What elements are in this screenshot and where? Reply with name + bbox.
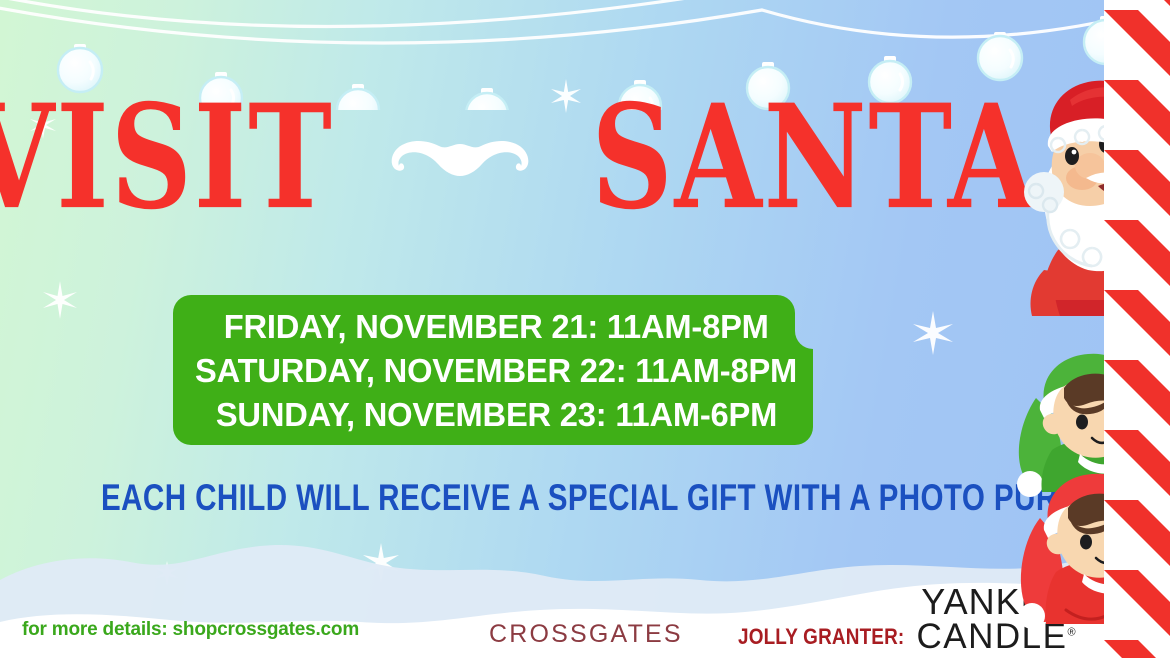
schedule-line-sunday: SUNDAY, NOVEMBER 23: 11AM-6PM (215, 393, 776, 437)
jolly-granter-label: JOLLY GRANTER: (738, 624, 904, 650)
details-url[interactable]: for more details: shopcrossgates.com (22, 619, 359, 641)
promo-tagline: EACH CHILD WILL RECEIVE A SPECIAL GIFT W… (101, 477, 909, 519)
candy-cane-pole (1104, 0, 1170, 658)
schedule-list: FRIDAY, NOVEMBER 21: 11AM-8PM SATURDAY, … (173, 295, 819, 445)
crossgates-logo: CROSSGATES (489, 620, 683, 649)
santa-visit-poster: VISIT SANTA FRIDAY, NOVEMBER 21: 11AM-8P… (0, 0, 1170, 658)
sparkle-icon (40, 280, 80, 320)
page-title: VISIT SANTA (0, 98, 1010, 220)
schedule-line-saturday: SATURDAY, NOVEMBER 22: 11AM-8PM (195, 349, 797, 393)
character-group (940, 0, 1170, 658)
schedule-panel: FRIDAY, NOVEMBER 21: 11AM-8PM SATURDAY, … (173, 295, 819, 445)
schedule-line-friday: FRIDAY, NOVEMBER 21: 11AM-8PM (224, 305, 769, 349)
title-word-visit: VISIT (0, 91, 334, 227)
mustache-icon (385, 124, 535, 194)
